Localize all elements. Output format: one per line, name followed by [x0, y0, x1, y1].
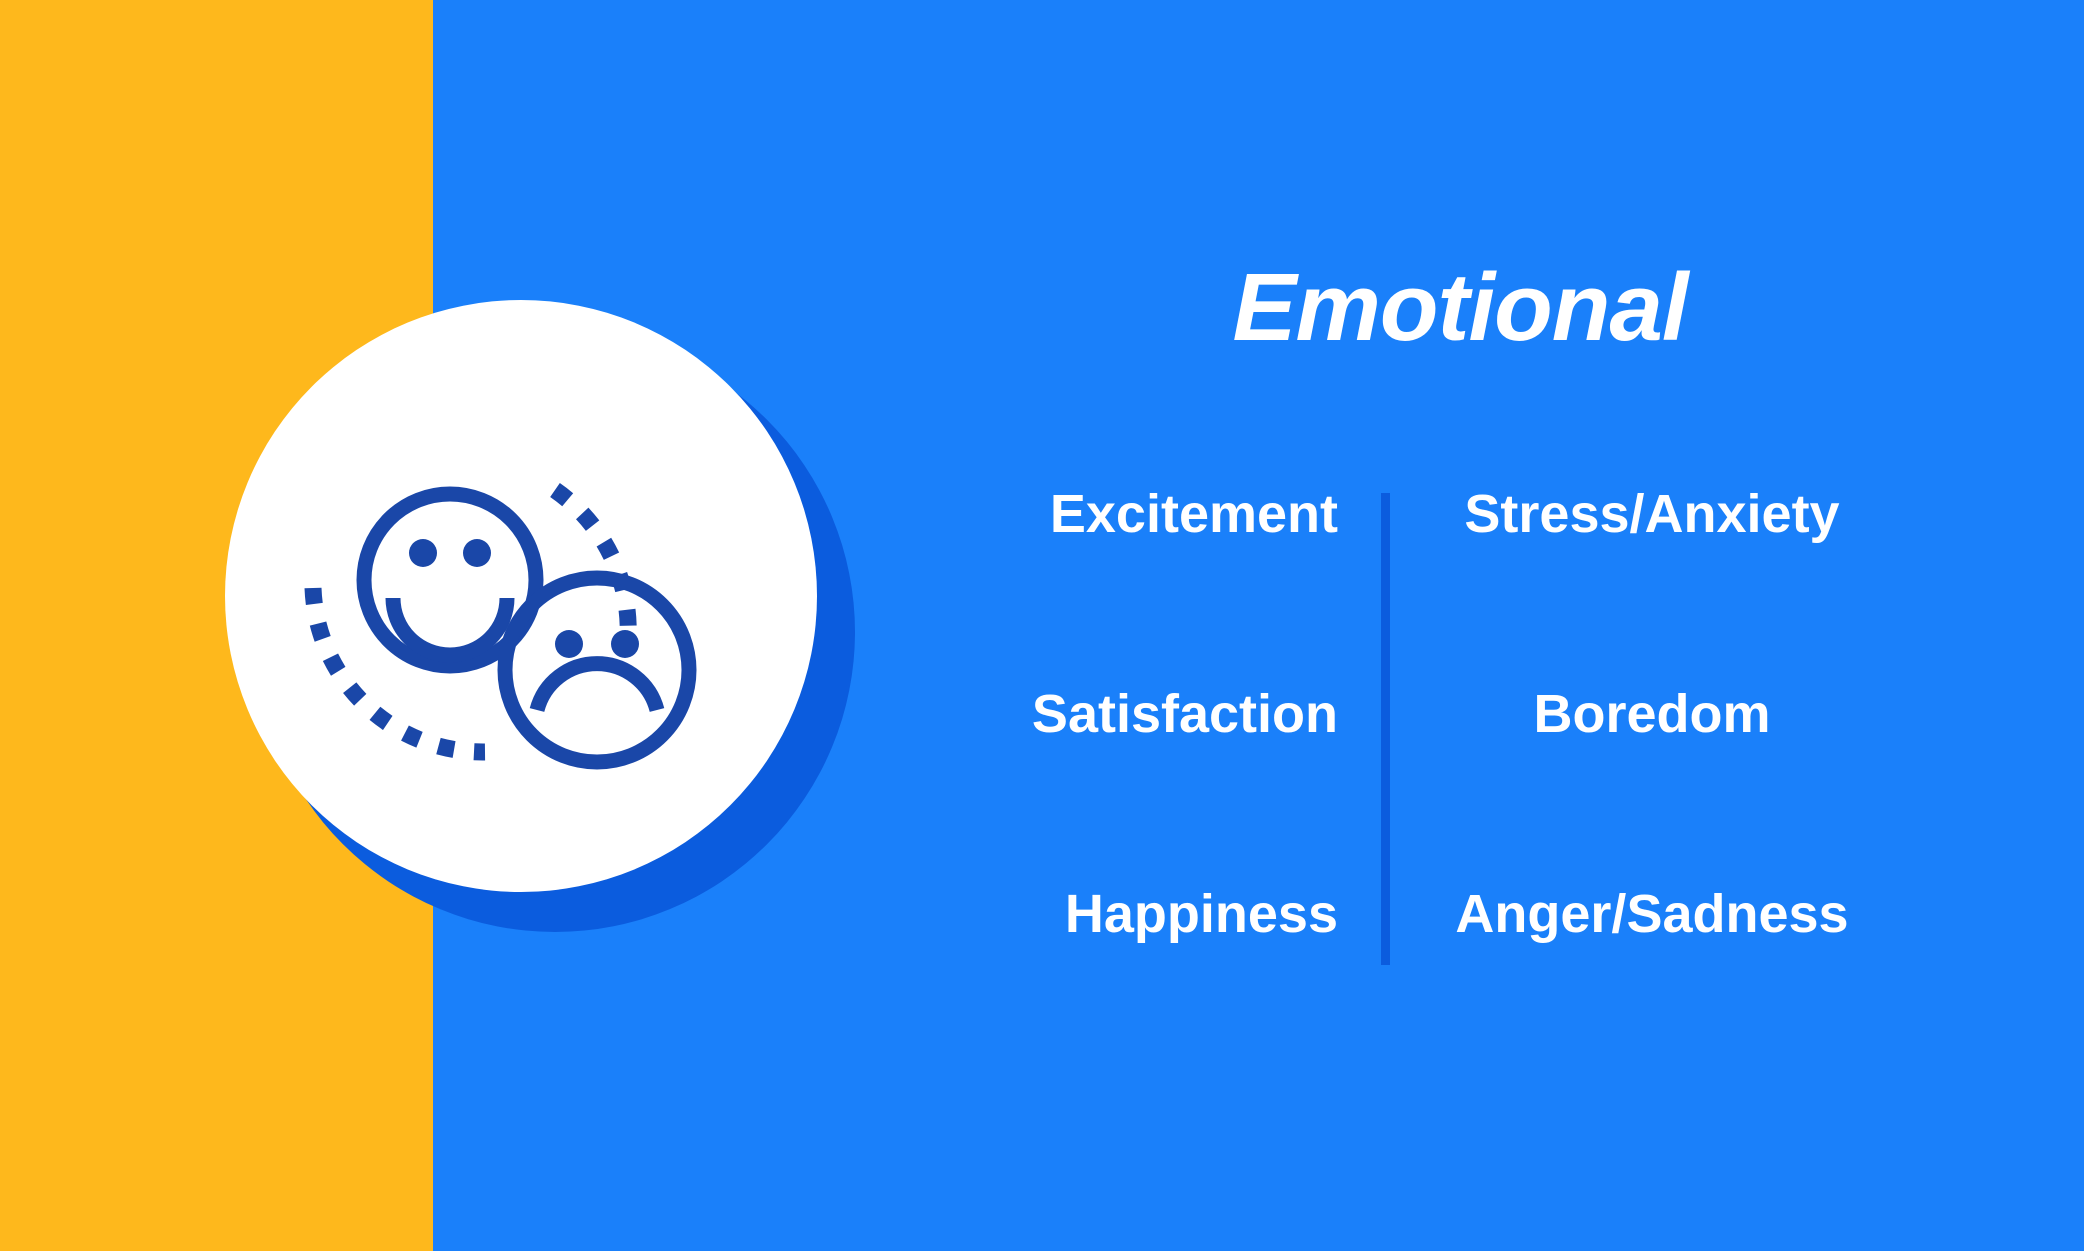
page-title: Emotional: [1000, 260, 1920, 356]
positive-emotion-label: Excitement: [1000, 485, 1370, 544]
slide-canvas: Emotional Excitement Stress/Anxiety Sati…: [0, 0, 2084, 1251]
negative-emotion-label: Anger/Sadness: [1370, 885, 1920, 944]
negative-emotion-label: Stress/Anxiety: [1370, 485, 1920, 544]
content-column: Emotional Excitement Stress/Anxiety Sati…: [1000, 260, 1920, 1020]
pair-row: Satisfaction Boredom: [1000, 665, 1920, 765]
emotion-icon-badge: [225, 300, 865, 940]
pair-row: Excitement Stress/Anxiety: [1000, 465, 1920, 565]
negative-emotion-label: Boredom: [1370, 685, 1920, 744]
happy-sad-faces-icon: [225, 300, 817, 892]
positive-emotion-label: Satisfaction: [1000, 685, 1370, 744]
pair-row: Happiness Anger/Sadness: [1000, 865, 1920, 965]
emotion-pairs-list: Excitement Stress/Anxiety Satisfaction B…: [1000, 465, 1920, 965]
positive-emotion-label: Happiness: [1000, 885, 1370, 944]
